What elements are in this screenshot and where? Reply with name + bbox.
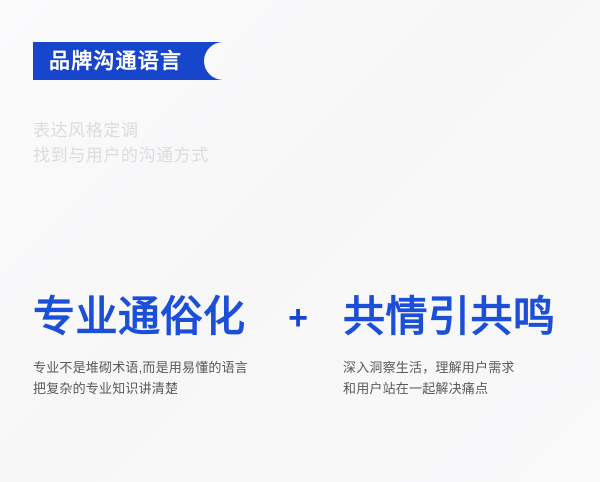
subtitle-line-2: 找到与用户的沟通方式 (33, 143, 209, 168)
description-line-1: 专业不是堆砌术语,而是用易懂的语言 (33, 357, 273, 378)
description-line-2: 和用户站在一起解决痛点 (343, 378, 579, 399)
slide-canvas: 品牌沟通语言 表达风格定调 找到与用户的沟通方式 专业通俗化 专业不是堆砌术语,… (0, 0, 600, 482)
column-empathy: 共情引共鸣 深入洞察生活，理解用户需求 和用户站在一起解决痛点 (343, 292, 579, 399)
description-line-2: 把复杂的专业知识讲清楚 (33, 378, 273, 399)
column-description: 深入洞察生活，理解用户需求 和用户站在一起解决痛点 (343, 357, 579, 399)
description-line-1: 深入洞察生活，理解用户需求 (343, 357, 579, 378)
column-professional: 专业通俗化 专业不是堆砌术语,而是用易懂的语言 把复杂的专业知识讲清楚 (33, 292, 273, 399)
plus-separator-icon: + (281, 294, 315, 342)
content-columns: 专业通俗化 专业不是堆砌术语,而是用易懂的语言 把复杂的专业知识讲清楚 + 共情… (0, 292, 600, 399)
column-headline: 专业通俗化 (33, 292, 273, 342)
subtitle-line-1: 表达风格定调 (33, 118, 209, 143)
column-description: 专业不是堆砌术语,而是用易懂的语言 把复杂的专业知识讲清楚 (33, 357, 273, 399)
section-subtitle: 表达风格定调 找到与用户的沟通方式 (33, 118, 209, 168)
column-headline: 共情引共鸣 (343, 292, 579, 342)
section-badge: 品牌沟通语言 (33, 42, 222, 80)
columns-row: 专业通俗化 专业不是堆砌术语,而是用易懂的语言 把复杂的专业知识讲清楚 + 共情… (0, 292, 600, 399)
badge-label: 品牌沟通语言 (33, 42, 222, 80)
